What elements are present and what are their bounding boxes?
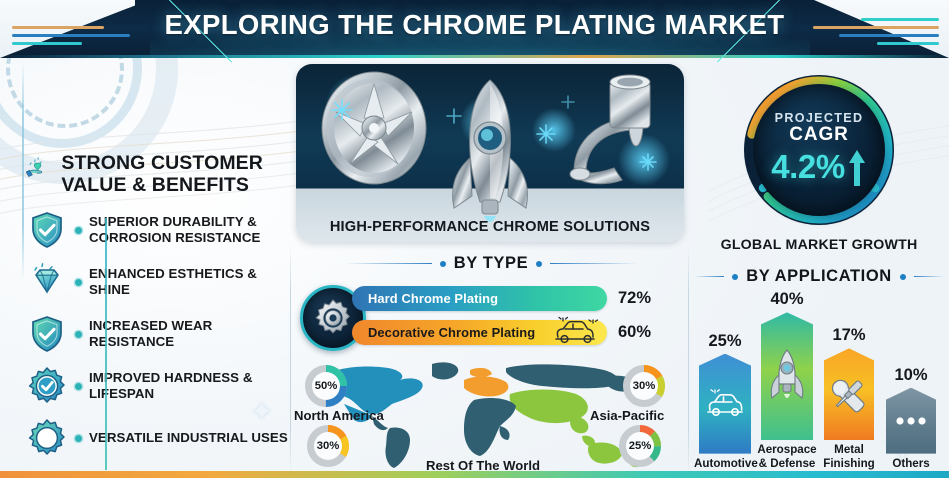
hand-heart-icon xyxy=(26,148,52,188)
center-panel: HIGH-PERFORMANCE CHROME SOLUTIONS BY TYP… xyxy=(296,64,686,478)
hero-caption: HIGH-PERFORMANCE CHROME SOLUTIONS xyxy=(296,219,684,235)
car-icon xyxy=(551,315,599,349)
donut-north-america-value: 50% xyxy=(312,372,340,400)
cagr-inner-disc: PROJECTED CAGR 4.2% xyxy=(753,84,885,216)
car-icon xyxy=(704,387,746,421)
title-rule-right xyxy=(550,263,638,265)
hero-products-illustration xyxy=(296,64,684,242)
benefit-label-2: ENHANCED ESTHETICS & SHINE xyxy=(89,266,288,297)
benefits-panel: STRONG CUSTOMER VALUE & BENEFITS SUPERIO… xyxy=(26,148,288,468)
diamond-icon xyxy=(26,261,68,303)
benefit-bullet-2 xyxy=(75,279,82,286)
benefit-bullet-5 xyxy=(75,435,82,442)
cagr-value: 4.2% xyxy=(771,148,845,186)
title-rule-left xyxy=(344,263,432,265)
by-type-title-text: BY TYPE xyxy=(454,254,529,273)
bottom-accent-strip xyxy=(0,471,949,478)
right-panel: PROJECTED CAGR 4.2% GLOBAL MARKET GROWTH… xyxy=(694,70,944,470)
app-column-metal-finishing: 17% Metal Finishing xyxy=(818,326,880,470)
benefits-heading: STRONG CUSTOMER VALUE & BENEFITS xyxy=(26,148,288,196)
benefit-bullet-3 xyxy=(75,331,82,338)
app-name-aerospace: Aerospace & Defense xyxy=(756,443,818,470)
left-column-rule xyxy=(22,62,24,280)
app-title-bullet-left xyxy=(732,274,738,280)
center-left-separator xyxy=(290,245,291,475)
global-market-growth-caption: GLOBAL MARKET GROWTH xyxy=(694,237,944,253)
region-label-north-america: North America xyxy=(294,408,384,423)
benefit-item-5: VERSATILE INDUSTRIAL USES xyxy=(26,416,288,460)
center-right-separator xyxy=(688,245,689,475)
app-column-others: 10% Others xyxy=(880,366,942,470)
app-value-others: 10% xyxy=(880,366,942,385)
benefit-bullet-1 xyxy=(75,227,82,234)
app-bar-metal-finishing xyxy=(824,348,874,440)
by-type-value-1: 72% xyxy=(618,289,651,308)
rocket-icon xyxy=(767,348,807,404)
app-column-automotive: 25% Automotive xyxy=(694,332,756,470)
by-type-chart: Hard Chrome Plating 72% Decorative Chrom… xyxy=(296,282,686,356)
by-application-chart: 25% Automotive xyxy=(694,302,944,470)
by-type-label-2: Decorative Chrome Plating xyxy=(368,325,535,340)
by-application-section-title: BY APPLICATION xyxy=(694,267,944,286)
by-type-row-2: Decorative Chrome Plating xyxy=(352,320,651,345)
cagr-projected-label: PROJECTED xyxy=(775,111,864,125)
benefit-item-3: INCREASED WEAR RESISTANCE xyxy=(26,312,288,356)
app-title-rule-right xyxy=(914,276,944,278)
app-title-bullet-right xyxy=(900,274,906,280)
gear-icon xyxy=(26,417,68,459)
benefit-label-1: SUPERIOR DURABILITY & CORROSION RESISTAN… xyxy=(89,214,288,245)
by-type-value-2: 60% xyxy=(618,323,651,342)
title-bullet-right xyxy=(536,261,542,267)
app-bar-aerospace xyxy=(761,312,813,440)
app-name-automotive: Automotive xyxy=(694,457,756,470)
by-type-bar-2: Decorative Chrome Plating xyxy=(352,320,607,345)
ellipsis-icon xyxy=(891,414,931,428)
donut-unlabeled: 25% xyxy=(618,424,662,468)
region-label-asia-pacific: Asia-Pacific xyxy=(590,408,664,423)
benefit-item-2: ENHANCED ESTHETICS & SHINE xyxy=(26,260,288,304)
benefits-heading-text: STRONG CUSTOMER VALUE & BENEFITS xyxy=(61,148,288,196)
donut-rest-of-world-value: 30% xyxy=(314,432,342,460)
app-name-others: Others xyxy=(880,457,942,470)
app-bar-automotive xyxy=(699,354,751,454)
by-type-label-1: Hard Chrome Plating xyxy=(368,291,498,306)
regional-map: 50% North America 30% 30% xyxy=(296,362,684,478)
donut-asia-pacific: 30% xyxy=(622,364,666,408)
cagr-gauge: PROJECTED CAGR 4.2% xyxy=(739,70,899,230)
hero-products-card: HIGH-PERFORMANCE CHROME SOLUTIONS xyxy=(296,64,684,242)
gear-check-icon xyxy=(26,365,68,407)
benefit-item-1: SUPERIOR DURABILITY & CORROSION RESISTAN… xyxy=(26,208,288,252)
app-value-aerospace: 40% xyxy=(756,290,818,309)
donut-north-america: 50% xyxy=(304,364,348,408)
benefit-bullet-4 xyxy=(75,383,82,390)
wrench-screwdriver-icon xyxy=(828,373,870,415)
by-type-row-1: Hard Chrome Plating 72% xyxy=(352,286,651,311)
donut-rest-of-world: 30% xyxy=(306,424,350,468)
app-bar-others xyxy=(886,388,936,454)
shield-check-icon xyxy=(26,209,68,251)
app-column-aerospace: 40% Aerospace & Defense xyxy=(756,290,818,470)
shield-check-icon-2 xyxy=(26,313,68,355)
benefit-label-3: INCREASED WEAR RESISTANCE xyxy=(89,318,288,349)
page-title: EXPLORING THE CHROME PLATING MARKET xyxy=(0,9,949,41)
arrow-up-icon xyxy=(847,146,867,190)
benefit-label-5: VERSATILE INDUSTRIAL USES xyxy=(89,430,288,446)
by-application-title-text: BY APPLICATION xyxy=(746,267,892,286)
app-name-metal-finishing: Metal Finishing xyxy=(818,443,880,470)
by-type-bar-1: Hard Chrome Plating xyxy=(352,286,607,311)
benefit-item-4: IMPROVED HARDNESS & LIFESPAN xyxy=(26,364,288,408)
benefit-label-4: IMPROVED HARDNESS & LIFESPAN xyxy=(89,370,288,401)
app-value-metal-finishing: 17% xyxy=(818,326,880,345)
benefits-timeline xyxy=(105,218,107,470)
donut-unlabeled-value: 25% xyxy=(626,432,654,460)
title-bullet-left xyxy=(440,261,446,267)
app-value-automotive: 25% xyxy=(694,332,756,351)
cagr-label: CAGR xyxy=(789,124,849,146)
by-type-section-title: BY TYPE xyxy=(296,254,686,273)
donut-asia-pacific-value: 30% xyxy=(630,372,658,400)
cagr-value-row: 4.2% xyxy=(771,146,867,190)
app-title-rule-left xyxy=(694,276,724,278)
infographic-root: ✦ ✦ EXPLORING THE CHROME PLATING MARKET xyxy=(0,0,949,478)
